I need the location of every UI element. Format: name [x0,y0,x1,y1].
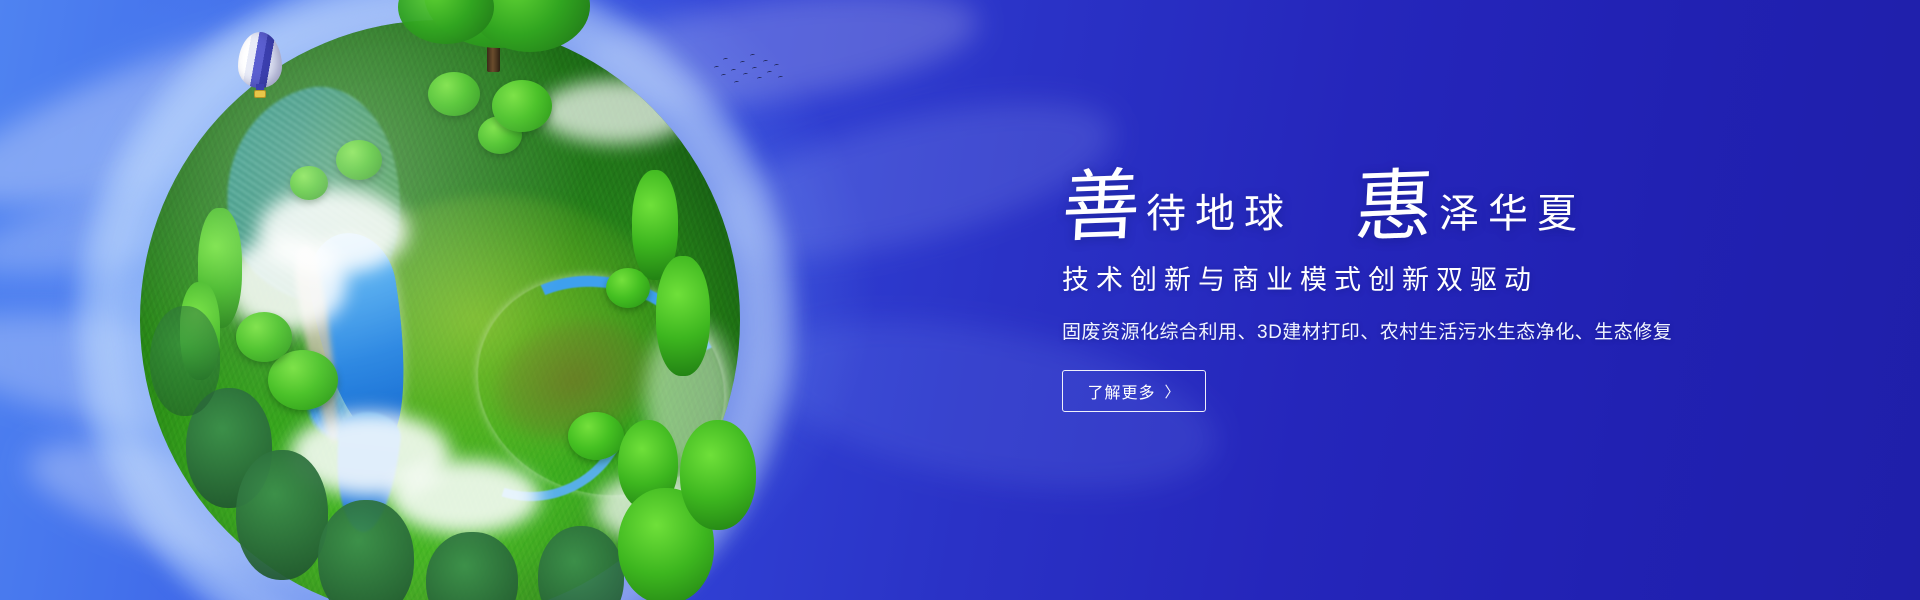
surface-cloud [258,188,408,274]
tree-clump [428,72,480,116]
silhouette-tree [680,420,756,530]
description: 固废资源化综合利用、3D建材打印、农村生活污水生态净化、生态修复 [1062,317,1822,344]
headline-char-shan: 善 [1060,171,1142,245]
rim-tree [198,208,242,328]
surface-cloud [540,80,690,144]
learn-more-label: 了解更多 [1087,379,1155,403]
surface-cloud [226,236,346,332]
subtitle: 技术创新与商业模式创新双驱动 [1062,258,1822,297]
headline-zehuaxia: 泽华夏 [1439,194,1586,234]
banner-copy: 善 待地球 惠 泽华夏 技术创新与商业模式创新双驱动 固废资源化综合利用、3D建… [1062,148,1822,412]
green-earth-globe [140,20,740,600]
rim-tree [632,170,678,280]
tree-clump [606,268,650,308]
mountain-ridge [203,72,425,323]
headline: 善 待地球 惠 泽华夏 [1062,148,1822,244]
balloon-envelope [238,32,282,88]
river-branch [410,287,660,532]
headline-daidiqiu: 待地球 [1146,194,1293,234]
hot-air-balloon [238,32,282,88]
tree-clump [568,412,624,460]
surface-cloud [390,460,540,534]
silhouette-tree [318,500,414,600]
tree-clump [290,166,328,200]
lake [302,227,420,448]
chevron-right-icon: 〉 [1165,381,1181,402]
tree-clump [268,350,338,410]
balloon-basket [254,90,266,98]
sunlit-meadow [310,195,680,475]
bird-flock [712,52,782,92]
silhouette-tree [236,450,328,580]
tree-clump [492,80,552,132]
headline-char-hui: 惠 [1353,171,1435,245]
bare-earth-patch [477,297,671,462]
tree-clump [478,116,522,154]
rim-tree [656,256,710,376]
silhouette-tree [150,306,220,416]
eco-hero-banner: 善 待地球 惠 泽华夏 技术创新与商业模式创新双驱动 固废资源化综合利用、3D建… [0,0,1920,600]
tree-clump [336,140,382,180]
learn-more-button[interactable]: 了解更多 〉 [1062,370,1206,412]
tree-clump [236,312,292,362]
